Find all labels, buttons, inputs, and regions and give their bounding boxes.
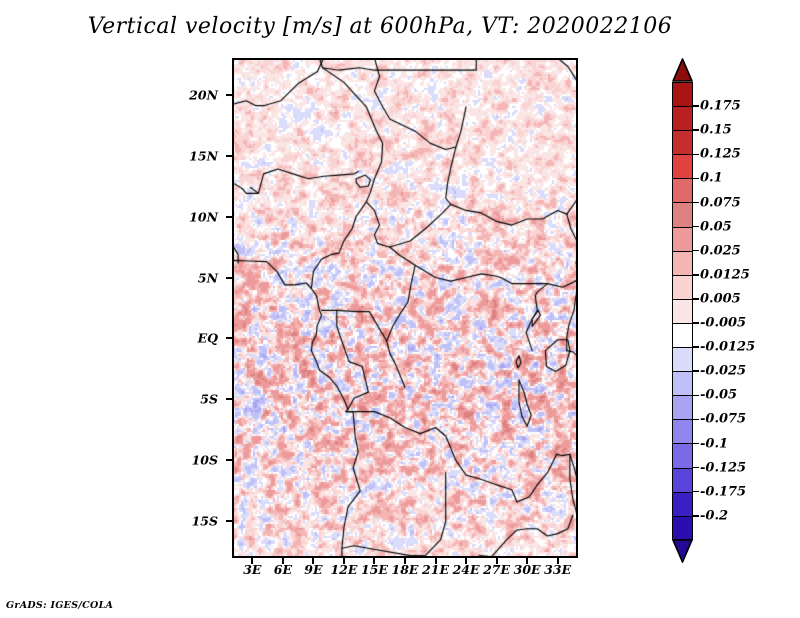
colorbar-label: -0.005 (700, 316, 746, 331)
colorbar-tick (693, 202, 699, 204)
colorbar-under-arrow-icon (672, 539, 693, 563)
colorbar-tick (693, 226, 699, 228)
x-tick-mark (435, 558, 437, 564)
colorbar-over-arrow-icon (672, 58, 693, 82)
colorbar-label: -0.05 (700, 388, 737, 403)
colorbar-band (672, 443, 693, 467)
x-tick-mark (343, 558, 345, 564)
colorbar-band (672, 202, 693, 226)
colorbar-band (672, 82, 693, 106)
colorbar-label: 0.05 (700, 219, 732, 234)
colorbar-tick (693, 178, 699, 180)
y-tick-mark (226, 155, 232, 157)
page-title: Vertical velocity [m/s] at 600hPa, VT: 2… (0, 14, 760, 39)
colorbar-label: -0.1 (700, 436, 728, 451)
y-tick-label: 15S (192, 514, 218, 529)
colorbar-band (672, 516, 693, 540)
x-tick-label: 3E (243, 562, 261, 577)
colorbar-label: 0.125 (700, 147, 741, 162)
x-tick-label: 6E (274, 562, 292, 577)
colorbar-bands (672, 82, 693, 540)
y-tick-label: 10S (192, 453, 218, 468)
x-tick-mark (312, 558, 314, 564)
y-tick-label: 20N (189, 87, 218, 102)
colorbar-band (672, 299, 693, 323)
colorbar-tick (693, 395, 699, 397)
colorbar-label: -0.025 (700, 364, 746, 379)
x-tick-mark (465, 558, 467, 564)
colorbar-band (672, 395, 693, 419)
colorbar-band (672, 275, 693, 299)
x-tick-label: 24E (453, 562, 480, 577)
colorbar-tick (693, 443, 699, 445)
colorbar-band (672, 227, 693, 251)
colorbar-tick (693, 419, 699, 421)
colorbar-label: 0.0125 (700, 267, 750, 282)
x-tick-mark (373, 558, 375, 564)
colorbar-band (672, 323, 693, 347)
y-tick-mark (226, 520, 232, 522)
y-tick-mark (226, 216, 232, 218)
x-tick-label: 12E (330, 562, 357, 577)
colorbar-band (672, 468, 693, 492)
y-tick-label: 5N (198, 270, 218, 285)
x-tick-label: 27E (483, 562, 510, 577)
colorbar-label: 0.1 (700, 171, 723, 186)
x-tick-label: 21E (422, 562, 449, 577)
colorbar-tick (693, 346, 699, 348)
colorbar-label: -0.175 (700, 484, 746, 499)
colorbar-tick (693, 322, 699, 324)
colorbar-tick (693, 105, 699, 107)
y-tick-mark (226, 94, 232, 96)
colorbar-label: 0.025 (700, 243, 741, 258)
x-tick-label: 33E (544, 562, 571, 577)
colorbar-label: -0.075 (700, 412, 746, 427)
vertical-velocity-heatmap (232, 58, 578, 558)
colorbar-label: 0.175 (700, 99, 741, 114)
x-tick-mark (282, 558, 284, 564)
y-tick-label: 5S (200, 392, 218, 407)
colorbar-tick (693, 491, 699, 493)
y-tick-mark (226, 277, 232, 279)
x-tick-mark (557, 558, 559, 564)
colorbar-tick (693, 298, 699, 300)
colorbar-band (672, 178, 693, 202)
colorbar-label: 0.075 (700, 195, 741, 210)
colorbar-band (672, 130, 693, 154)
colorbar-band (672, 106, 693, 130)
y-tick-mark (226, 398, 232, 400)
y-tick-mark (226, 459, 232, 461)
grads-credit: GrADS: IGES/COLA (6, 600, 113, 611)
colorbar-tick (693, 129, 699, 131)
colorbar-tick (693, 274, 699, 276)
colorbar-band (672, 347, 693, 371)
colorbar-band (672, 371, 693, 395)
colorbar-label: 0.005 (700, 291, 741, 306)
colorbar-label: -0.2 (700, 508, 728, 523)
x-tick-label: 9E (304, 562, 322, 577)
colorbar-tick (693, 154, 699, 156)
colorbar: 0.1750.150.1250.10.0750.050.0250.01250.0… (672, 58, 800, 563)
x-tick-label: 30E (514, 562, 541, 577)
colorbar-tick (693, 467, 699, 469)
x-tick-mark (526, 558, 528, 564)
colorbar-band (672, 251, 693, 275)
colorbar-label: -0.125 (700, 460, 746, 475)
x-tick-mark (496, 558, 498, 564)
colorbar-tick (693, 250, 699, 252)
y-tick-label: EQ (198, 331, 218, 346)
y-tick-label: 10N (189, 209, 218, 224)
x-tick-mark (404, 558, 406, 564)
map-plot-area (232, 58, 578, 558)
y-tick-mark (226, 337, 232, 339)
colorbar-tick (693, 370, 699, 372)
x-tick-label: 18E (392, 562, 419, 577)
colorbar-label: 0.15 (700, 123, 732, 138)
colorbar-label: -0.0125 (700, 340, 755, 355)
colorbar-tick (693, 515, 699, 517)
y-tick-label: 15N (189, 148, 218, 163)
x-tick-label: 15E (361, 562, 388, 577)
colorbar-band (672, 154, 693, 178)
x-tick-mark (251, 558, 253, 564)
colorbar-band (672, 419, 693, 443)
colorbar-band (672, 492, 693, 516)
